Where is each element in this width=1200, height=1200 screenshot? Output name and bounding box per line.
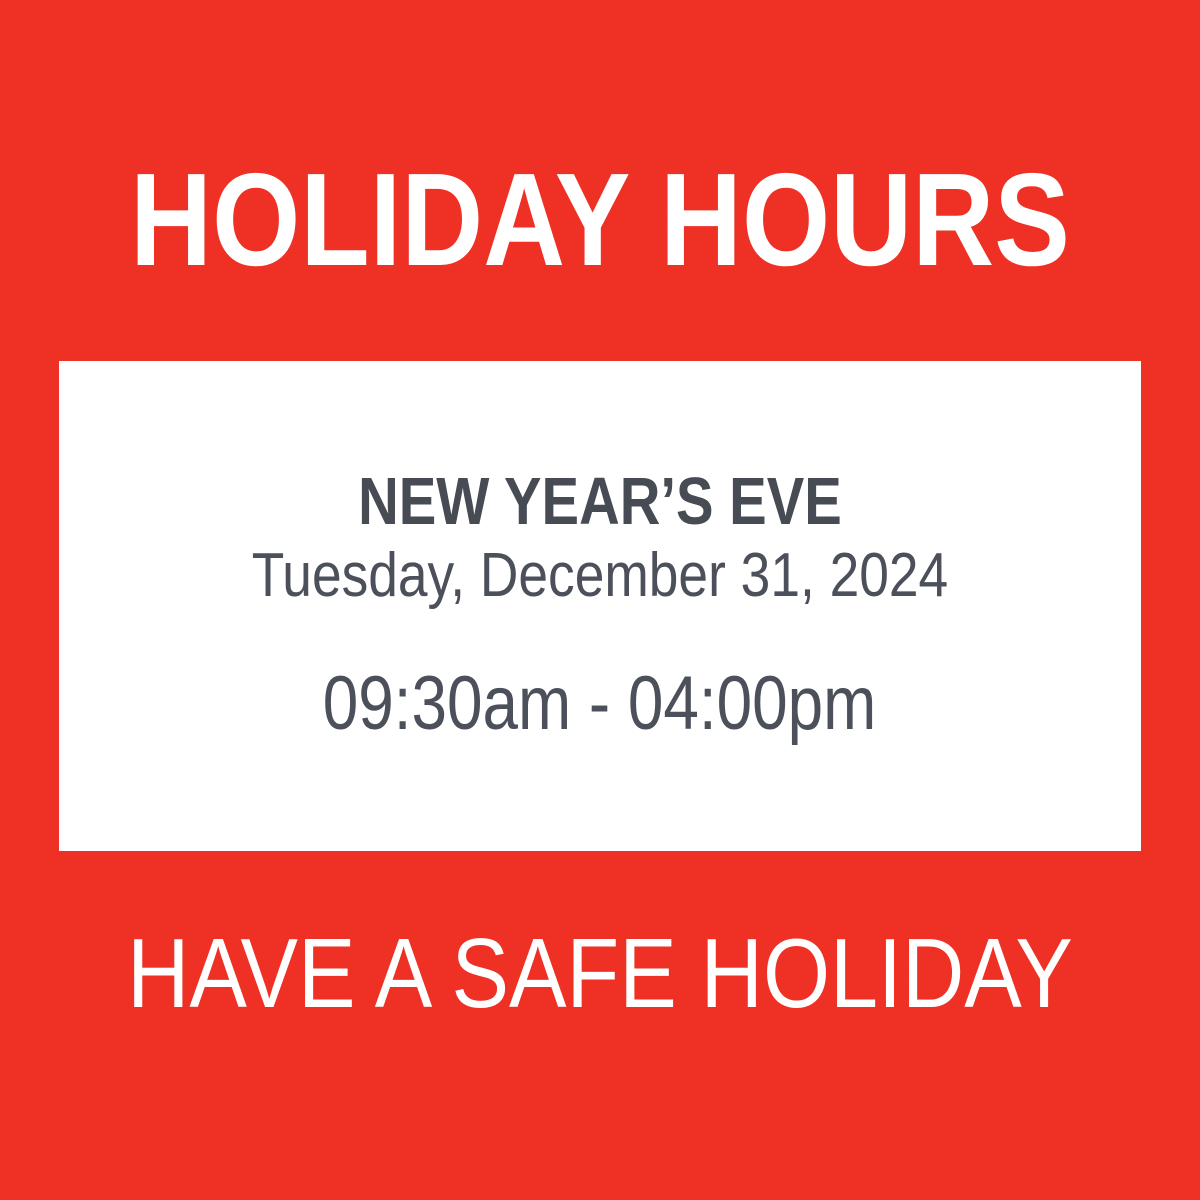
holiday-hours-poster: HOLIDAY HOURS NEW YEAR’S EVE Tuesday, De… [0, 0, 1200, 1200]
holiday-info-card-content: NEW YEAR’S EVE Tuesday, December 31, 202… [59, 361, 1141, 851]
holiday-info-card: NEW YEAR’S EVE Tuesday, December 31, 202… [59, 361, 1141, 851]
holiday-date: Tuesday, December 31, 2024 [252, 541, 949, 611]
footer-message: HAVE A SAFE HOLIDAY [72, 922, 1128, 1024]
page-title: HOLIDAY HOURS [84, 158, 1116, 282]
holiday-hours: 09:30am - 04:00pm [323, 663, 877, 745]
holiday-name: NEW YEAR’S EVE [358, 467, 842, 537]
